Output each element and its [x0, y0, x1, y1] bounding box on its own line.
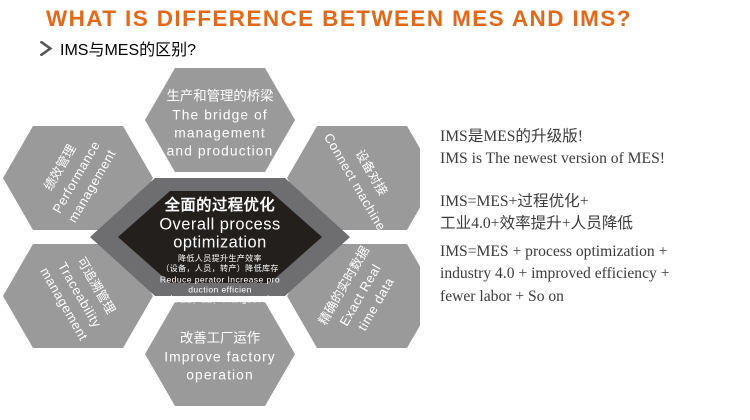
hex-core-detail-cn-1: 降低人员提升生产效率: [178, 253, 262, 263]
page-title: WHAT IS DIFFERENCE BETWEEN MES AND IMS?: [46, 6, 632, 32]
explanation-line-7: fewer labor + So on: [440, 286, 740, 308]
explanation-line-1: IMS是MES的升级版!: [440, 126, 740, 148]
subtitle-text: IMS与MES的区别?: [60, 36, 196, 60]
hex-label-top-cn: 生产和管理的桥梁: [166, 89, 273, 104]
hex-label-top-en-3: and production: [167, 144, 274, 159]
explanation-line-2: IMS is The newest version of MES!: [440, 148, 740, 170]
hexagon-diagram-svg: 生产和管理的桥梁 The bridge of management and pr…: [0, 58, 420, 420]
hex-petal-improve-factory-operation[interactable]: 改善工厂运作 Improve factory operation: [145, 302, 295, 406]
explanation-panel: IMS是MES的升级版! IMS is The newest version o…: [440, 126, 740, 308]
explanation-line-5: IMS=MES + process optimization +: [440, 241, 740, 263]
hex-label-bottom-cn: 改善工厂运作: [180, 331, 260, 346]
hex-core-detail-cn-2: （设备，人员，转产）降低库存: [161, 263, 279, 273]
hexagon-diagram: 生产和管理的桥梁 The bridge of management and pr…: [0, 58, 420, 420]
hex-core-title-en-1: Overall process: [159, 215, 280, 233]
paragraph-spacer-1: [440, 171, 740, 191]
hex-core-detail-en-2: duction efficien: [188, 284, 252, 294]
chevron-right-icon: [40, 41, 53, 56]
hex-label-top-en-2: management: [174, 126, 266, 141]
hex-label-bottom-en-1: Improve factory: [164, 350, 276, 365]
hex-core-title-en-2: optimization: [173, 233, 266, 251]
hex-core-detail-en-1: Reduce perator Increase pro: [160, 274, 280, 284]
hex-core-detail-en-3: （OEE，LE，changeove）: [164, 294, 276, 304]
explanation-line-3: IMS=MES+过程优化+: [440, 191, 740, 213]
subtitle-row: IMS与MES的区别?: [40, 36, 196, 60]
explanation-line-6: industry 4.0 + improved efficiency +: [440, 263, 740, 285]
hex-core-title-cn: 全面的过程优化: [164, 196, 276, 214]
hex-label-bottom-en-2: operation: [186, 368, 253, 383]
slide-header: WHAT IS DIFFERENCE BETWEEN MES AND IMS? …: [0, 0, 750, 62]
hex-petal-bridge-of-management-and-production[interactable]: 生产和管理的桥梁 The bridge of management and pr…: [145, 68, 295, 172]
explanation-line-4: 工业4.0+效率提升+人员降低: [440, 213, 740, 235]
hex-label-top-en-1: The bridge of: [172, 108, 268, 123]
